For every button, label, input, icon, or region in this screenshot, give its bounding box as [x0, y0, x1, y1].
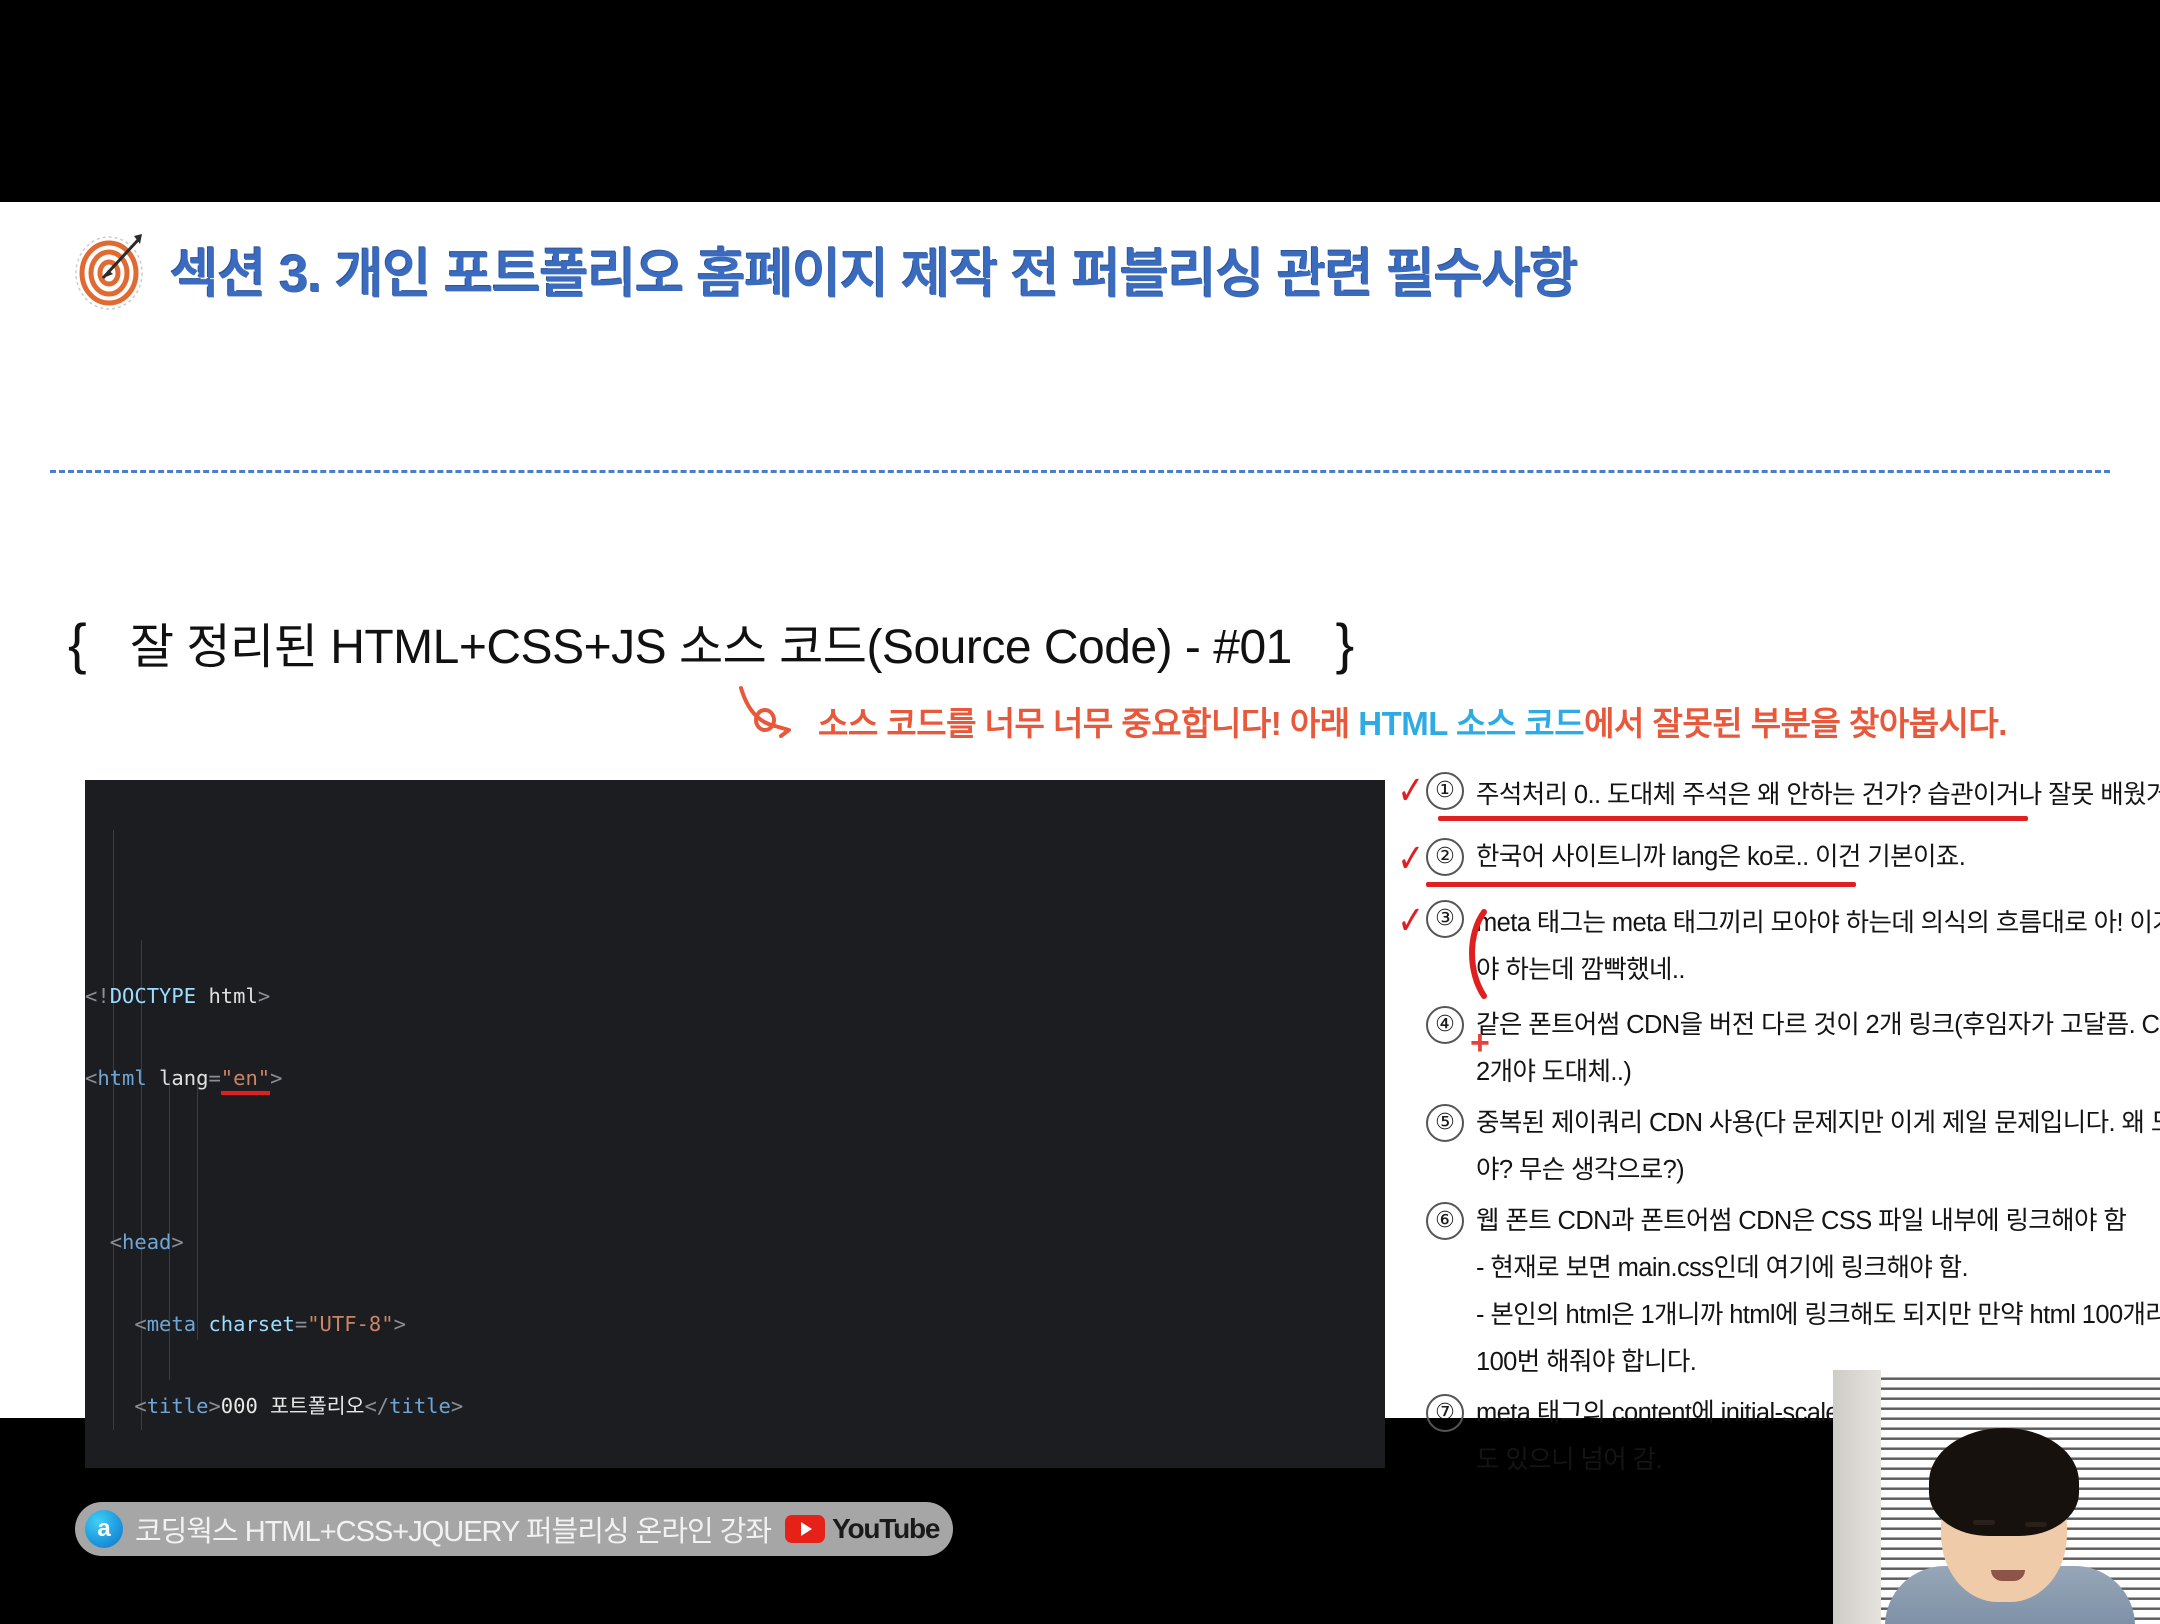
red-underline: [1438, 816, 2028, 821]
annotation-number: ②: [1426, 838, 1464, 876]
check-mark-icon: ✓: [1397, 768, 1424, 814]
header-divider: [50, 470, 2110, 473]
code-lines: <!DOCTYPE html> <html lang="en"> <head> …: [85, 780, 1385, 1468]
annotation-text: 한국어 사이트니까 lang은 ko로.. 이건 기본이죠.: [1476, 834, 2128, 881]
annotation-number: ③: [1426, 900, 1464, 938]
youtube-label: YouTube: [832, 1513, 939, 1545]
annotation-text: 야? 무슨 생각으로?): [1476, 1147, 2128, 1194]
webcam-wall: [1833, 1370, 1881, 1624]
page-title: 섹션 3. 개인 포트폴리오 홈페이지 제작 전 퍼블리싱 관련 필수사항: [170, 232, 1578, 308]
annotation-number: ①: [1426, 772, 1464, 810]
slide-canvas: 섹션 3. 개인 포트폴리오 홈페이지 제작 전 퍼블리싱 관련 필수사항 { …: [0, 202, 2160, 1418]
annotation-number: ⑦: [1426, 1394, 1464, 1432]
banner-label: 코딩웍스 HTML+CSS+JQUERY 퍼블리싱 온라인 강좌: [135, 1508, 771, 1550]
code-line: <meta charset="UTF-8">: [85, 1311, 1385, 1338]
red-paren-icon: [1462, 908, 1492, 1000]
code-line: <title>000 포트폴리오</title>: [85, 1393, 1385, 1420]
subtitle: { 잘 정리된 HTML+CSS+JS 소스 코드(Source Code) -…: [68, 607, 1354, 677]
code-line: <head>: [85, 1229, 1385, 1256]
annotation-item-1: ✓ ① 주석처리 0.. 도대체 주석은 왜 안하는 건가? 습관이거나 잘못 …: [1398, 772, 2128, 832]
annotation-text: 웹 폰트 CDN과 폰트어썸 CDN은 CSS 파일 내부에 링크해야 함: [1476, 1198, 2128, 1245]
annotation-item-2: ✓ ② 한국어 사이트니까 lang은 ko로.. 이건 기본이죠.: [1398, 834, 2128, 898]
code-line: [85, 1147, 1385, 1174]
subtitle-close-brace: }: [1336, 612, 1354, 675]
coding-works-logo-icon: a: [85, 1510, 123, 1548]
annotation-item-4: ④ + 같은 폰트어썸 CDN을 버전 다르 것이 2개 링크(후임자가 고달픔…: [1398, 1002, 2128, 1098]
webcam-hair: [1929, 1428, 2079, 1536]
code-line: <!DOCTYPE html>: [85, 983, 1385, 1010]
curved-arrow-icon: [735, 682, 815, 742]
annotation-text: - 본인의 html은 1개니까 html에 링크해도 되지만 만약 html …: [1476, 1292, 2128, 1339]
code-block: <!DOCTYPE html> <html lang="en"> <head> …: [85, 780, 1385, 1468]
annotation-text: 2개야 도대체..): [1476, 1049, 2128, 1096]
annotation-number: ⑥: [1426, 1202, 1464, 1240]
instruction-note: 소스 코드를 너무 너무 중요합니다! 아래 HTML 소스 코드에서 잘못된 …: [818, 697, 2007, 745]
annotation-text: - 현재로 보면 main.css인데 여기에 링크해야 함.: [1476, 1245, 2128, 1292]
presenter-webcam: [1833, 1370, 2160, 1624]
check-mark-icon: ✓: [1397, 898, 1424, 944]
subtitle-text: 잘 정리된 HTML+CSS+JS 소스 코드(Source Code) - #…: [130, 621, 1292, 674]
red-underline: [1426, 882, 1856, 887]
youtube-badge[interactable]: YouTube: [785, 1513, 939, 1545]
webcam-eye-left: [1973, 1520, 1995, 1525]
webcam-eye-right: [2025, 1522, 2047, 1527]
target-icon: [72, 232, 150, 310]
annotation-item-5: ⑤ 중복된 제이쿼리 CDN 사용(다 문제지만 이게 제일 문제입니다. 왜 …: [1398, 1100, 2128, 1196]
letterbox-top: [0, 0, 2160, 202]
annotation-item-3: ✓ ③ meta 태그는 meta 태그끼리 모아야 하는데 의식의 흐름대로 …: [1398, 900, 2128, 1000]
annotation-number: ④: [1426, 1006, 1464, 1044]
annotation-text: 같은 폰트어썸 CDN을 버전 다르 것이 2개 링크(후임자가 고달픔. CD…: [1476, 1002, 2128, 1049]
annotation-text: meta 태그는 meta 태그끼리 모아야 하는데 의식의 흐름대로 아! 이…: [1476, 900, 2128, 947]
annotation-number: ⑤: [1426, 1104, 1464, 1142]
check-mark-icon: ✓: [1397, 836, 1424, 882]
play-icon: [785, 1515, 825, 1543]
annotation-text: 야 하는데 깜빡했네..: [1476, 947, 2128, 994]
instruction-part1: 소스 코드를 너무 너무 중요합니다! 아래: [818, 705, 1358, 742]
instruction-part3: 에서 잘못된 부분을 찾아봅시다.: [1584, 705, 2007, 742]
instruction-highlight: HTML 소스 코드: [1358, 705, 1584, 742]
annotation-item-6: ⑥ 웹 폰트 CDN과 폰트어썸 CDN은 CSS 파일 내부에 링크해야 함 …: [1398, 1198, 2128, 1388]
subtitle-open-brace: {: [68, 612, 86, 675]
code-line: <html lang="en">: [85, 1065, 1385, 1092]
annotation-text: 중복된 제이쿼리 CDN 사용(다 문제지만 이게 제일 문제입니다. 왜 도대…: [1476, 1100, 2128, 1147]
course-banner[interactable]: a 코딩웍스 HTML+CSS+JQUERY 퍼블리싱 온라인 강좌 YouTu…: [75, 1502, 953, 1556]
annotation-text: 주석처리 0.. 도대체 주석은 왜 안하는 건가? 습관이거나 잘못 배웠거나…: [1476, 772, 2128, 819]
plus-mark-icon: +: [1470, 1024, 1490, 1063]
slide-header: 섹션 3. 개인 포트폴리오 홈페이지 제작 전 퍼블리싱 관련 필수사항: [60, 224, 2100, 344]
